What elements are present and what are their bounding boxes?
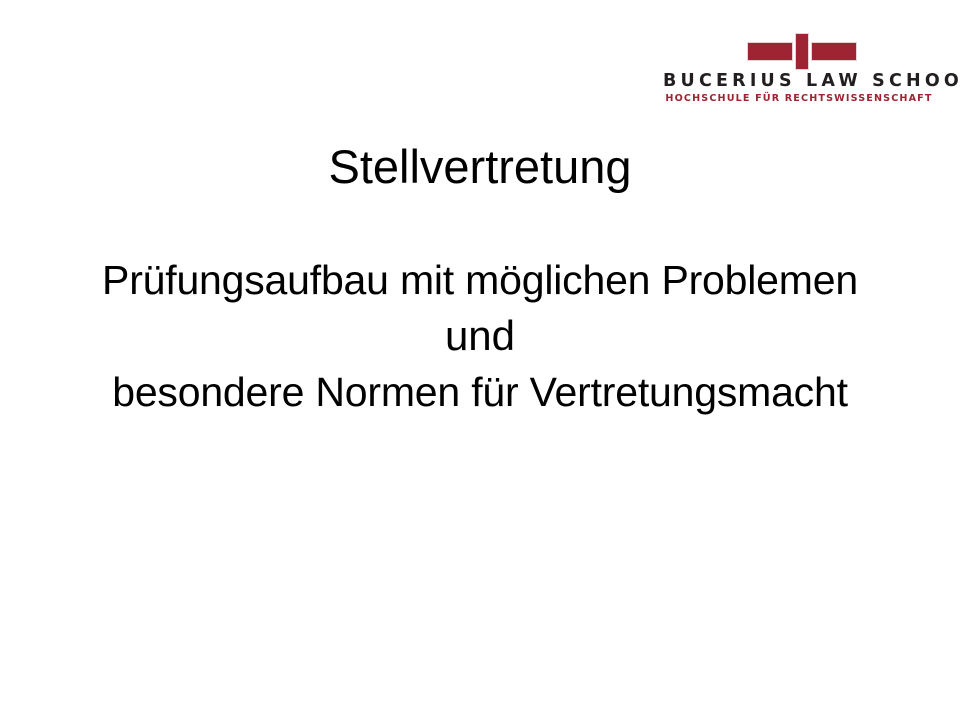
- slide-subtitle-line-2: und: [0, 308, 960, 364]
- slide-subtitle-line-3: besondere Normen für Vertretungsmacht: [0, 365, 960, 420]
- bucerius-law-school-logo: BUCERIUS LAW SCHOOL HOCHSCHULE FÜR RECHT…: [663, 28, 935, 108]
- logo-center-vertical-bar-icon: [795, 33, 809, 70]
- slide-content: Stellvertretung Prüfungsaufbau mit mögli…: [0, 138, 960, 419]
- logo-wordmark: BUCERIUS LAW SCHOOL: [663, 71, 935, 91]
- logo-tagline: HOCHSCHULE FÜR RECHTSWISSENSCHAFT: [663, 94, 935, 105]
- title-body-spacer: [0, 195, 960, 253]
- logo-left-horizontal-bar-icon: [747, 42, 793, 61]
- slide-canvas: BUCERIUS LAW SCHOOL HOCHSCHULE FÜR RECHT…: [0, 0, 960, 720]
- logo-mark-icon: [663, 28, 935, 70]
- slide-subtitle-line-1: Prüfungsaufbau mit möglichen Problemen: [0, 253, 960, 308]
- slide-title: Stellvertretung: [0, 138, 960, 195]
- logo-right-horizontal-bar-icon: [811, 42, 857, 61]
